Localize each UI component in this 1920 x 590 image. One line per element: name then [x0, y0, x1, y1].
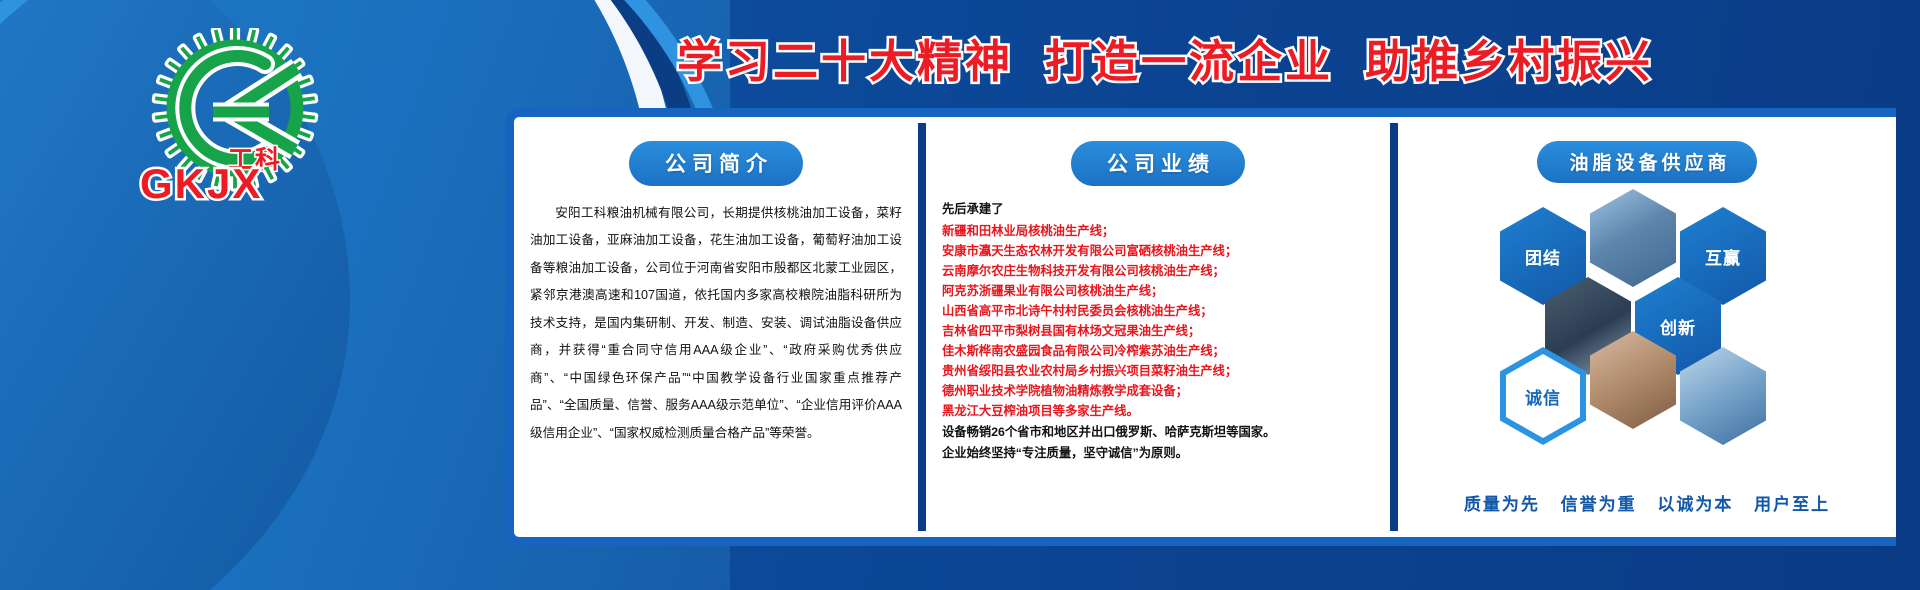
- slogan-part-1: 质量为先: [1464, 495, 1540, 514]
- logo-text-en: GKJX: [140, 160, 262, 208]
- slogan-part-3: 以诚为本: [1657, 495, 1733, 514]
- panel-supplier-heading: 油脂设备供应商: [1537, 141, 1756, 183]
- list-item: 新疆和田林业局核桃油生产线；: [942, 221, 1374, 241]
- hex-photo-equipment-1: [1590, 189, 1676, 287]
- panel-intro-heading: 公司简介: [629, 141, 803, 186]
- panel-achievements-heading: 公司业绩: [1071, 141, 1245, 186]
- headline-segment-1: 学习二十大精神: [677, 25, 1013, 90]
- hexagon-cluster: 团结 互赢 创新 诚信: [1482, 201, 1812, 429]
- list-item: 山西省高平市北诗午村村民委员会核桃油生产线；: [942, 301, 1374, 321]
- achievements-tail-line-2: 企业始终坚持“专注质量，坚守诚信”为原则。: [942, 444, 1374, 464]
- panel-intro-body: 安阳工科粮油机械有限公司，长期提供核桃油加工设备，菜籽油加工设备，亚麻油加工设备…: [530, 200, 902, 447]
- supplier-slogan: 质量为先 信誉为重 以诚为本 用户至上: [1457, 490, 1837, 515]
- achievements-lead: 先后承建了: [942, 200, 1374, 220]
- list-item: 阿克苏浙疆果业有限公司核桃油生产线；: [942, 281, 1374, 301]
- panel-company-intro: 公司简介 安阳工科粮油机械有限公司，长期提供核桃油加工设备，菜籽油加工设备，亚麻…: [514, 117, 918, 537]
- slogan-part-4: 用户至上: [1754, 495, 1830, 514]
- panel-supplier: 油脂设备供应商 团结 互赢 创新: [1398, 117, 1896, 537]
- list-item: 佳木斯桦南农盛园食品有限公司冷榨紫苏油生产线；: [942, 341, 1374, 361]
- content-card: 公司简介 安阳工科粮油机械有限公司，长期提供核桃油加工设备，菜籽油加工设备，亚麻…: [505, 108, 1896, 546]
- panel-company-achievements: 公司业绩 先后承建了 新疆和田林业局核桃油生产线； 安康市瀛天生态农林开发有限公…: [926, 117, 1390, 537]
- headline-segment-3: 助推乡村振兴: [1365, 25, 1653, 90]
- achievements-list: 新疆和田林业局核桃油生产线； 安康市瀛天生态农林开发有限公司富硒核桃油生产线； …: [942, 221, 1374, 421]
- list-item: 贵州省绥阳县农业农村局乡村振兴项目菜籽油生产线；: [942, 361, 1374, 381]
- poster-headline: 学习二十大精神 打造一流企业 助推乡村振兴: [430, 18, 1900, 96]
- list-item: 云南摩尔农庄生物科技开发有限公司核桃油生产线；: [942, 261, 1374, 281]
- list-item: 黑龙江大豆榨油项目等多家生产线。: [942, 401, 1374, 421]
- achievements-tail: 设备畅销26个省市和地区并出口俄罗斯、哈萨克斯坦等国家。 企业始终坚持“专注质量…: [942, 423, 1374, 464]
- list-item: 德州职业技术学院植物油精炼教学成套设备；: [942, 381, 1374, 401]
- headline-segment-2: 打造一流企业: [1045, 25, 1333, 90]
- list-item: 吉林省四平市梨树县国有林场文冠果油生产线；: [942, 321, 1374, 341]
- slogan-part-2: 信誉为重: [1561, 495, 1637, 514]
- list-item: 安康市瀛天生态农林开发有限公司富硒核桃油生产线；: [942, 241, 1374, 261]
- panel-divider-1: [918, 123, 926, 531]
- poster-canvas: 工科 GKJX 学习二十大精神 打造一流企业 助推乡村振兴 公司简介 安阳工科粮…: [0, 0, 1920, 590]
- achievements-tail-line-1: 设备畅销26个省市和地区并出口俄罗斯、哈萨克斯坦等国家。: [942, 423, 1374, 443]
- panel-divider-2: [1390, 123, 1398, 531]
